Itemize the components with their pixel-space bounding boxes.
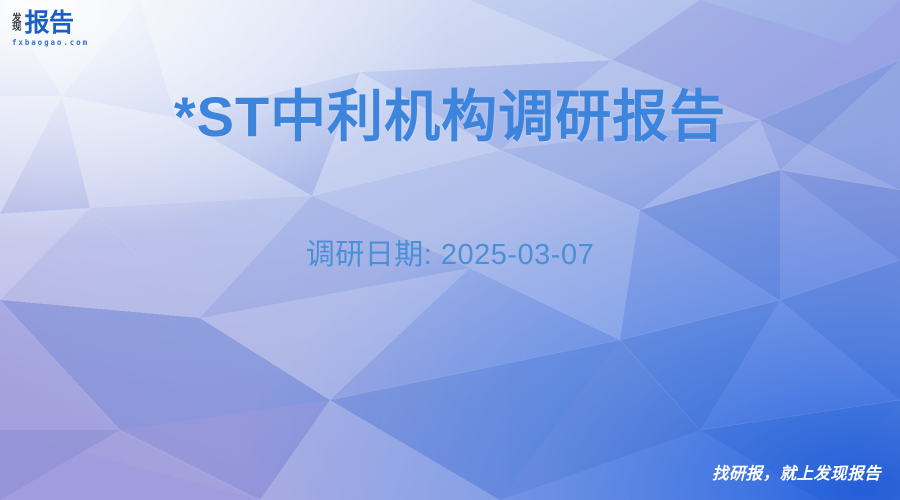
logo-wordmark: 报告 <box>25 11 74 35</box>
report-cover: 发 现 报告 fxbaogao.com *ST中利机构调研报告 调研日期: 20… <box>0 0 900 500</box>
page-title: *ST中利机构调研报告 <box>0 86 900 149</box>
title-block: *ST中利机构调研报告 <box>0 86 900 149</box>
brand-logo[interactable]: 发 现 报告 fxbaogao.com <box>12 11 89 47</box>
survey-date-subtitle: 调研日期: 2025-03-07 <box>0 231 900 273</box>
logo-stacked-characters: 发 现 <box>12 14 22 35</box>
logo-wordmark-row: 发 现 报告 <box>12 11 74 35</box>
logo-domain-text: fxbaogao.com <box>12 38 89 47</box>
footer-tagline: 找研报，就上发现报告 <box>712 460 881 484</box>
logo-char-xian: 现 <box>12 23 22 33</box>
